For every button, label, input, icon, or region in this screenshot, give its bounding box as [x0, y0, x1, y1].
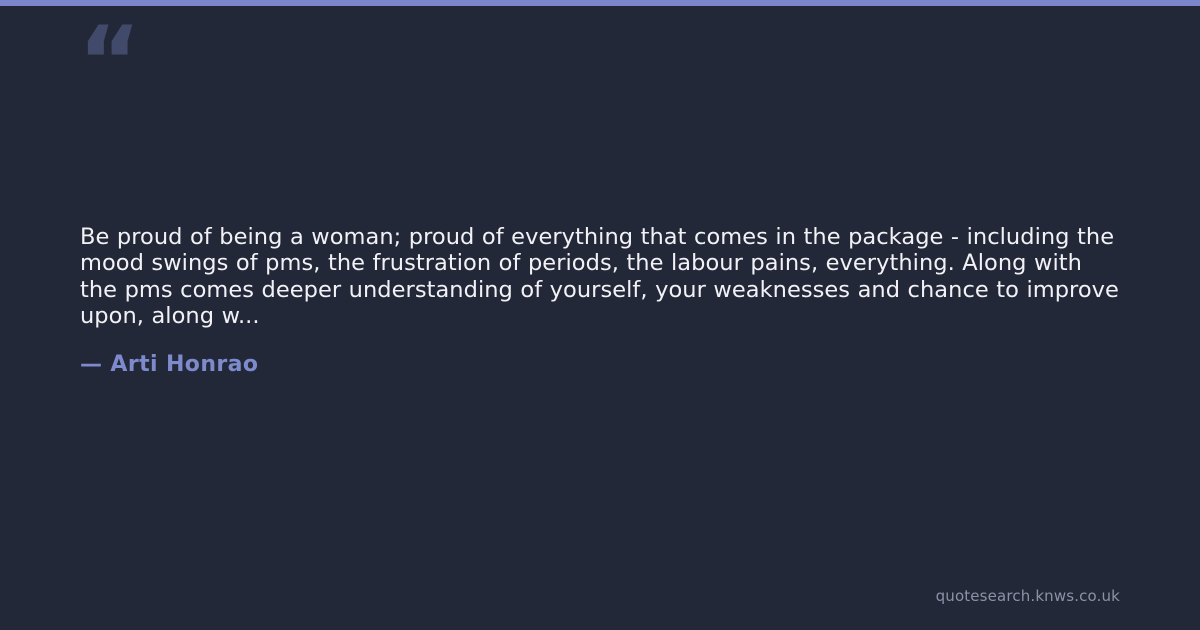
author-name: Arti Honrao — [110, 352, 258, 377]
quote-text: Be proud of being a woman; proud of ever… — [80, 224, 1120, 329]
top-accent-bar — [0, 0, 1200, 6]
quote-attribution: —Arti Honrao — [80, 352, 258, 377]
quote-card: “ Be proud of being a woman; proud of ev… — [0, 0, 1200, 630]
source-url: quotesearch.knws.co.uk — [936, 587, 1120, 605]
open-quote-icon: “ — [78, 14, 139, 110]
attribution-dash: — — [80, 352, 102, 377]
